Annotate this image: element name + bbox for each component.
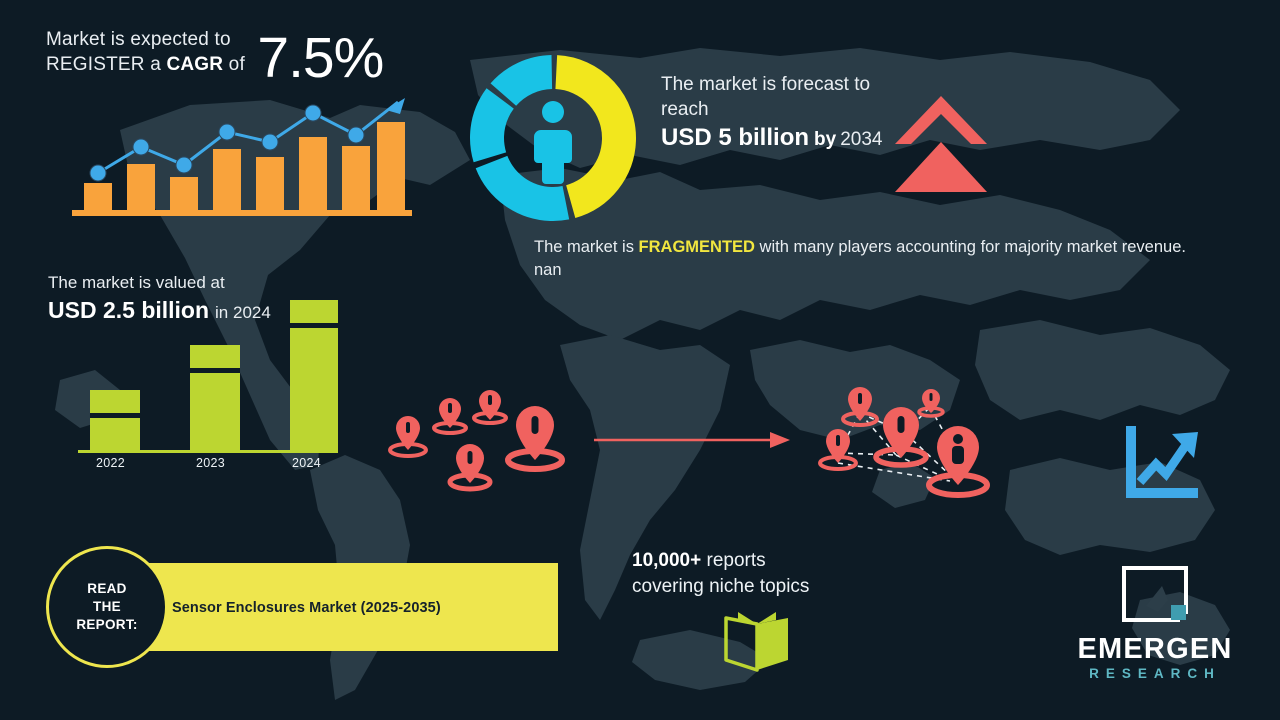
green-chart-baseline	[78, 450, 338, 453]
cagr-block: Market is expected to REGISTER a CAGR of…	[46, 22, 466, 82]
green-chart-label-2022: 2022	[96, 456, 125, 470]
bar-2023	[190, 345, 240, 450]
double-chevron-up-icon	[893, 92, 989, 196]
map-pin-icon	[474, 390, 506, 423]
forecast-by-label: by	[814, 129, 836, 150]
report-title[interactable]: Sensor Enclosures Market (2025-2035)	[172, 600, 552, 616]
bar-2024	[290, 300, 338, 450]
forecast-year: 2034	[840, 129, 882, 150]
trend-arrow-head	[386, 98, 405, 114]
green-bar-series	[90, 300, 338, 450]
fragmented-highlight: FRAGMENTED	[639, 238, 755, 256]
fragmentation-statement: The market is FRAGMENTED with many playe…	[534, 236, 1214, 282]
green-chart-label-2024: 2024	[292, 456, 321, 470]
right-arrow-icon	[592, 428, 792, 452]
infographic-page: Market is expected to REGISTER a CAGR of…	[0, 0, 1280, 720]
open-book-icon	[722, 610, 792, 672]
emergen-research-logo: EMERGEN RESEARCH	[1060, 566, 1250, 698]
map-pin-icon	[508, 406, 562, 469]
read-label-line-2: THE	[76, 598, 137, 616]
map-pin-icon	[919, 389, 943, 416]
growth-trend-chart	[72, 80, 412, 225]
logo-mark-icon	[1122, 566, 1188, 632]
logo-name: EMERGEN	[1060, 632, 1250, 666]
reports-line-1: 10,000+ reports	[632, 548, 912, 574]
cagr-value: 7.5%	[257, 28, 383, 88]
reports-count-block: 10,000+ reports covering niche topics	[632, 548, 912, 600]
read-label-line-3: REPORT:	[76, 616, 137, 634]
chart-baseline	[72, 210, 412, 216]
map-pin-icon	[876, 407, 926, 465]
forecast-amount: USD 5 billion	[661, 124, 809, 151]
read-label-line-1: READ	[76, 580, 137, 598]
logo-subtitle: RESEARCH	[1060, 666, 1250, 681]
bar-2022	[90, 390, 140, 450]
networked-map-pins	[800, 385, 1010, 500]
reports-line-2: covering niche topics	[632, 574, 912, 600]
cagr-line-2-bold: CAGR	[166, 54, 223, 75]
cagr-line-2-pre: REGISTER a	[46, 54, 166, 75]
reports-count: 10,000+	[632, 550, 701, 571]
market-value-chart: 2022 2023 2024	[78, 295, 338, 475]
growth-chart-icon	[1120, 424, 1204, 506]
map-pin-icon	[450, 444, 490, 489]
valued-line-1: The market is valued at	[48, 272, 348, 294]
green-chart-label-2023: 2023	[196, 456, 225, 470]
read-the-report-label: READ THE REPORT:	[76, 580, 137, 634]
cagr-line-2: REGISTER a CAGR of	[46, 52, 245, 77]
map-pin-icon	[434, 398, 466, 433]
read-the-report-badge[interactable]: READ THE REPORT:	[46, 546, 168, 668]
map-pin-icon	[820, 429, 856, 469]
map-pin-icon	[390, 416, 426, 456]
cagr-line-2-post: of	[223, 54, 245, 75]
map-pin-icon	[843, 387, 877, 425]
fragmented-pre: The market is	[534, 238, 639, 256]
market-share-donut	[463, 48, 643, 228]
reports-label: reports	[701, 550, 765, 571]
map-pin-icon	[929, 426, 987, 495]
cagr-line-1: Market is expected to	[46, 27, 245, 52]
scattered-map-pins	[380, 388, 570, 498]
cagr-text: Market is expected to REGISTER a CAGR of	[46, 27, 245, 77]
person-icon	[534, 101, 572, 184]
